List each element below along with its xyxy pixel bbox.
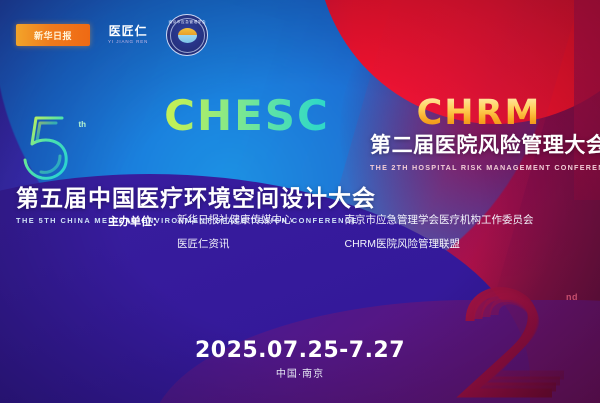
chesc-acronym: CHESC bbox=[126, 96, 368, 136]
organizers-column-one: 新华日报社健康传媒中心 医匠仁资讯 bbox=[177, 212, 293, 251]
left-title-cn: 第五届中国医疗环境空间设计大会 bbox=[16, 186, 368, 211]
sponsor-logo-row: 新华日报 医匠仁 YI JIANG REN 南京市应急管理学会 bbox=[16, 14, 208, 56]
organizers-column-two: 南京市应急管理学会医疗机构工作委员会 CHRM医院风险管理联盟 bbox=[345, 212, 534, 251]
yijiangren-logo[interactable]: 医匠仁 YI JIANG REN bbox=[108, 25, 148, 45]
association-seal-logo[interactable]: 南京市应急管理学会 bbox=[166, 14, 208, 56]
left-conference-block: th CHESC 第五届中国医疗环境空间设计大会 THE 5TH CHINA M… bbox=[16, 96, 368, 225]
organizer-item: 南京市应急管理学会医疗机构工作委员会 bbox=[345, 212, 534, 227]
event-place: 中国·南京 bbox=[0, 365, 600, 380]
organizer-item: 医匠仁资讯 bbox=[177, 236, 293, 251]
organizer-item: CHRM医院风险管理联盟 bbox=[345, 236, 534, 251]
chrm-acronym: CHRM bbox=[370, 96, 588, 131]
yijiangren-logo-cn: 医匠仁 bbox=[108, 25, 148, 37]
event-date: 2025.07.25-7.27 bbox=[0, 338, 600, 363]
xinhua-daily-logo[interactable]: 新华日报 bbox=[16, 24, 90, 46]
right-conference-block: CHRM 第二届医院风险管理大会 THE 2TH HOSPITAL RISK M… bbox=[370, 96, 588, 172]
seal-arc-text: 南京市应急管理学会 bbox=[167, 20, 207, 25]
fifth-edition-suffix: th bbox=[78, 120, 86, 129]
organizers-section: 主办单位： 新华日报社健康传媒中心 医匠仁资讯 南京市应急管理学会医疗机构工作委… bbox=[108, 212, 534, 251]
yijiangren-logo-en: YI JIANG REN bbox=[108, 40, 148, 45]
fifth-edition-numeral: th bbox=[16, 110, 76, 184]
right-title-cn: 第二届医院风险管理大会 bbox=[370, 134, 588, 157]
right-title-en: THE 2TH HOSPITAL RISK MANAGEMENT CONFERE… bbox=[370, 163, 588, 172]
conference-poster: nd 新华日报 医匠仁 YI JIANG REN 南京市应急管理学会 bbox=[0, 0, 600, 403]
organizer-item: 新华日报社健康传媒中心 bbox=[177, 212, 293, 227]
decorative-ordinal-suffix: nd bbox=[566, 292, 578, 302]
organizers-label: 主办单位： bbox=[108, 212, 163, 251]
